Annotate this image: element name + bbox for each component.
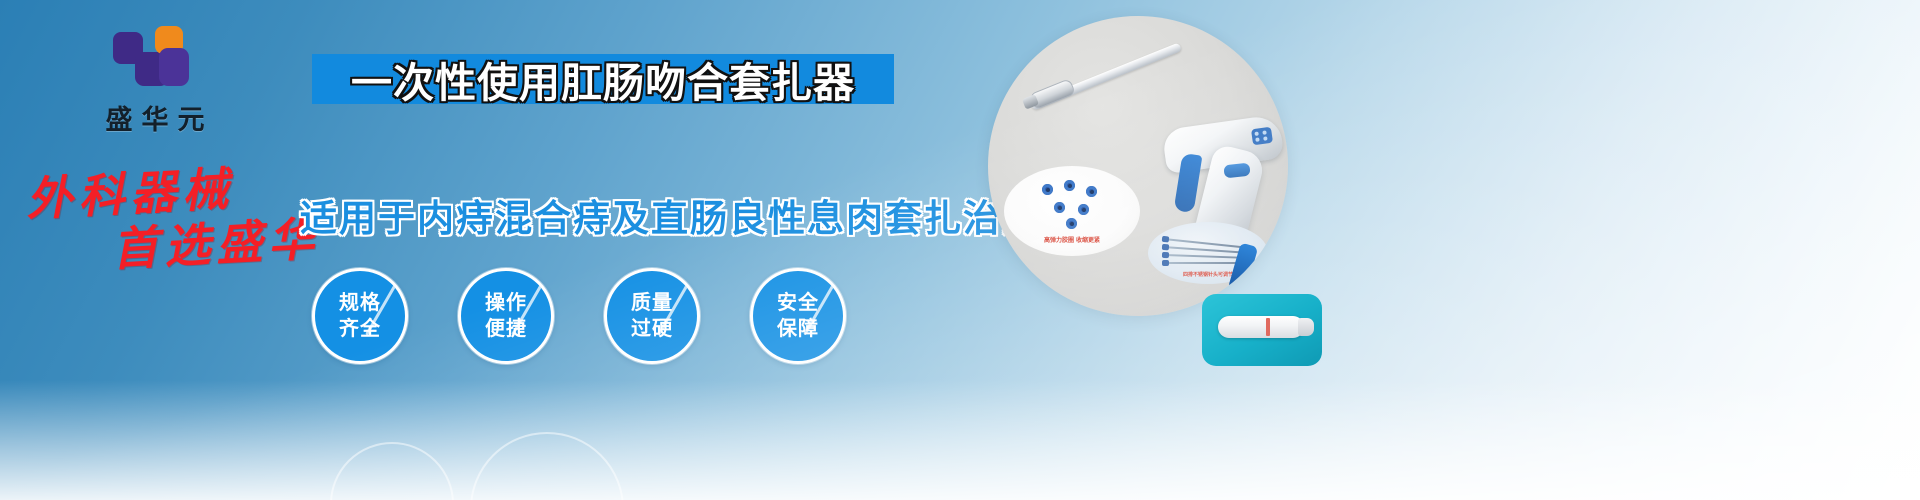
brand-logo[interactable]: 盛华元 [60, 26, 250, 137]
feature-badge-quality[interactable]: 质量 过硬 [604, 268, 700, 364]
logo-mark-icon [113, 26, 197, 92]
rubber-band-icon [1054, 202, 1065, 213]
cartridge-inset [1202, 294, 1322, 366]
rubber-bands-caption: 高弹力胶圈 收缩更紧 [1004, 235, 1140, 244]
decorative-circle [470, 432, 624, 500]
needle-icon [1164, 262, 1242, 264]
logo-shape-d [159, 48, 189, 86]
background-bottom-fade [0, 380, 1920, 500]
product-photo-circle: 高弹力胶圈 收缩更紧 四排不锈钢针头可调节 [988, 16, 1288, 316]
feature-badge-operate[interactable]: 操作 便捷 [458, 268, 554, 364]
needle-icon [1164, 246, 1242, 253]
logo-wordmark: 盛华元 [60, 98, 250, 137]
rubber-band-icon [1078, 204, 1089, 215]
feature-badge-safety[interactable]: 安全 保障 [750, 268, 846, 364]
feature-badge-safety-line1: 安全 [777, 290, 819, 316]
decorative-circle [330, 442, 454, 500]
feature-badge-safety-line2: 保障 [777, 316, 819, 342]
feature-badge-spec-line2: 齐全 [339, 316, 381, 342]
cartridge-tip [1298, 318, 1314, 336]
rubber-band-icon [1066, 218, 1077, 229]
feature-badge-operate-line2: 便捷 [485, 316, 527, 342]
promo-banner: 盛华元 外科器械 首选盛华 一次性使用肛肠吻合套扎器 适用于内痔混合痔及直肠良性… [0, 0, 1920, 500]
subtitle-text: 适用于内痔混合痔及直肠良性息肉套扎治疗 [300, 188, 1041, 242]
feature-badge-quality-line1: 质量 [631, 290, 673, 316]
feature-badge-list: 规格 齐全 操作 便捷 质量 过硬 安全 保障 [312, 268, 846, 364]
feature-badge-quality-line2: 过硬 [631, 316, 673, 342]
needle-icon [1164, 254, 1242, 259]
product-photo: 高弹力胶圈 收缩更紧 四排不锈钢针头可调节 [988, 16, 1288, 316]
headline-bar: 一次性使用肛肠吻合套扎器 [312, 54, 894, 104]
feature-badge-operate-line1: 操作 [485, 290, 527, 316]
page-title: 一次性使用肛肠吻合套扎器 [351, 49, 855, 109]
device-button-panel [1251, 127, 1273, 146]
rubber-band-icon [1042, 184, 1053, 195]
feature-badge-spec[interactable]: 规格 齐全 [312, 268, 408, 364]
cartridge-tube [1218, 316, 1304, 338]
slogan-line-2: 首选盛华 [110, 203, 321, 280]
ligator-device-illustration [988, 16, 1288, 316]
rubber-band-icon [1064, 180, 1075, 191]
feature-badge-spec-line1: 规格 [339, 290, 381, 316]
rubber-band-icon [1086, 186, 1097, 197]
rubber-bands-inset: 高弹力胶圈 收缩更紧 [1004, 166, 1140, 256]
